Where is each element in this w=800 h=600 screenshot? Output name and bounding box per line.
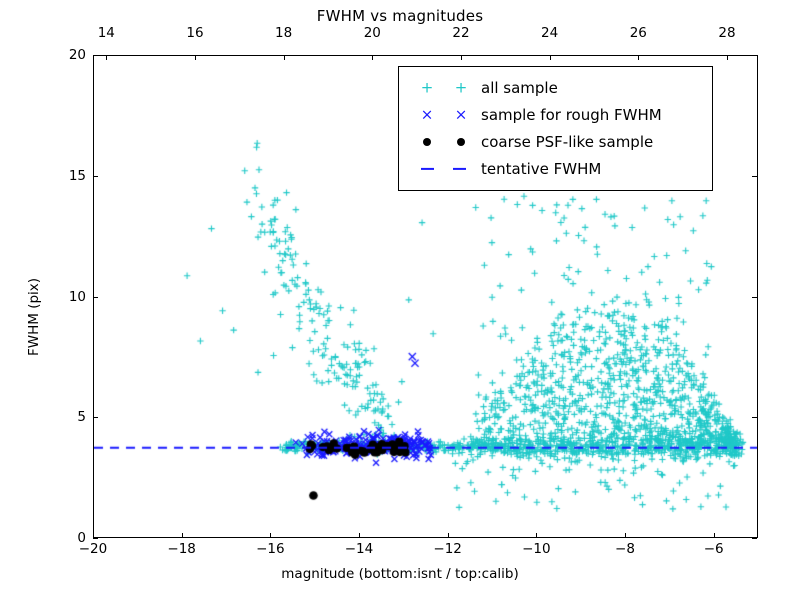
x-tick-label-top: 22 <box>452 25 469 41</box>
x-tick-label-bottom: −6 <box>704 541 724 557</box>
legend-dash-icon <box>453 167 466 169</box>
page-title: FWHM vs magnitudes <box>0 7 800 25</box>
x-tick-label-top: 20 <box>364 25 381 41</box>
legend-marker-icon <box>409 159 481 179</box>
legend-glyph-icon: × <box>455 107 468 122</box>
x-tick-mark-top <box>284 55 285 60</box>
y-tick-mark-left <box>93 176 98 177</box>
x-tick-label-bottom: −10 <box>522 541 551 557</box>
y-tick-label: 15 <box>46 168 86 184</box>
legend-marker-icon: ++ <box>409 78 481 98</box>
x-tick-mark-bottom <box>270 533 271 538</box>
y-tick-label: 5 <box>46 409 86 425</box>
x-tick-mark-top <box>727 55 728 60</box>
x-tick-mark-bottom <box>625 533 626 538</box>
x-tick-mark-bottom <box>714 533 715 538</box>
legend-item-label: coarse PSF-like sample <box>481 133 653 151</box>
legend-glyph-icon: × <box>421 107 434 122</box>
y-tick-mark-right <box>752 417 757 418</box>
x-tick-label-top: 28 <box>718 25 735 41</box>
legend-item: ++all sample <box>409 74 702 101</box>
y-tick-mark-right <box>752 297 757 298</box>
y-tick-mark-left <box>93 55 98 56</box>
x-tick-label-bottom: −8 <box>615 541 635 557</box>
legend-item: tentative FWHM <box>409 155 702 182</box>
x-tick-label-bottom: −18 <box>167 541 196 557</box>
x-tick-label-top: 18 <box>275 25 292 41</box>
legend-dot-icon <box>423 138 431 146</box>
legend-item: coarse PSF-like sample <box>409 128 702 155</box>
chart-legend: ++all sample××sample for rough FWHMcoars… <box>398 66 713 191</box>
x-tick-label-bottom: −12 <box>433 541 462 557</box>
legend-item-label: tentative FWHM <box>481 160 601 178</box>
legend-dot-icon <box>457 138 465 146</box>
x-tick-label-top: 24 <box>541 25 558 41</box>
x-tick-mark-top <box>372 55 373 60</box>
x-tick-mark-top <box>638 55 639 60</box>
y-tick-mark-right <box>752 176 757 177</box>
x-tick-label-top: 26 <box>630 25 647 41</box>
y-tick-mark-left <box>93 297 98 298</box>
x-axis-label: magnitude (bottom:isnt / top:calib) <box>0 566 800 582</box>
figure-canvas: FWHM vs magnitudes magnitude (bottom:isn… <box>0 0 800 600</box>
legend-marker-icon <box>409 132 481 152</box>
legend-item-label: all sample <box>481 79 558 97</box>
x-tick-label-bottom: −16 <box>256 541 285 557</box>
y-tick-mark-right <box>752 538 757 539</box>
legend-glyph-icon: + <box>421 80 434 95</box>
x-tick-mark-top <box>550 55 551 60</box>
x-tick-label-top: 14 <box>98 25 115 41</box>
legend-dash-icon <box>421 167 434 169</box>
legend-glyph-icon: + <box>455 80 468 95</box>
legend-item: ××sample for rough FWHM <box>409 101 702 128</box>
x-tick-mark-bottom <box>536 533 537 538</box>
legend-marker-icon: ×× <box>409 105 481 125</box>
y-tick-label: 20 <box>46 47 86 63</box>
y-axis-label: FWHM (pix) <box>26 278 42 356</box>
x-tick-label-top: 16 <box>186 25 203 41</box>
y-tick-mark-left <box>93 538 98 539</box>
y-tick-label: 0 <box>46 530 86 546</box>
x-tick-mark-bottom <box>182 533 183 538</box>
x-tick-mark-top <box>106 55 107 60</box>
x-tick-mark-bottom <box>359 533 360 538</box>
legend-item-label: sample for rough FWHM <box>481 106 662 124</box>
x-tick-mark-top <box>461 55 462 60</box>
x-tick-label-bottom: −14 <box>345 541 374 557</box>
y-tick-label: 10 <box>46 289 86 305</box>
x-tick-mark-top <box>195 55 196 60</box>
x-tick-mark-bottom <box>93 533 94 538</box>
x-tick-mark-bottom <box>448 533 449 538</box>
y-tick-mark-left <box>93 417 98 418</box>
y-tick-mark-right <box>752 55 757 56</box>
